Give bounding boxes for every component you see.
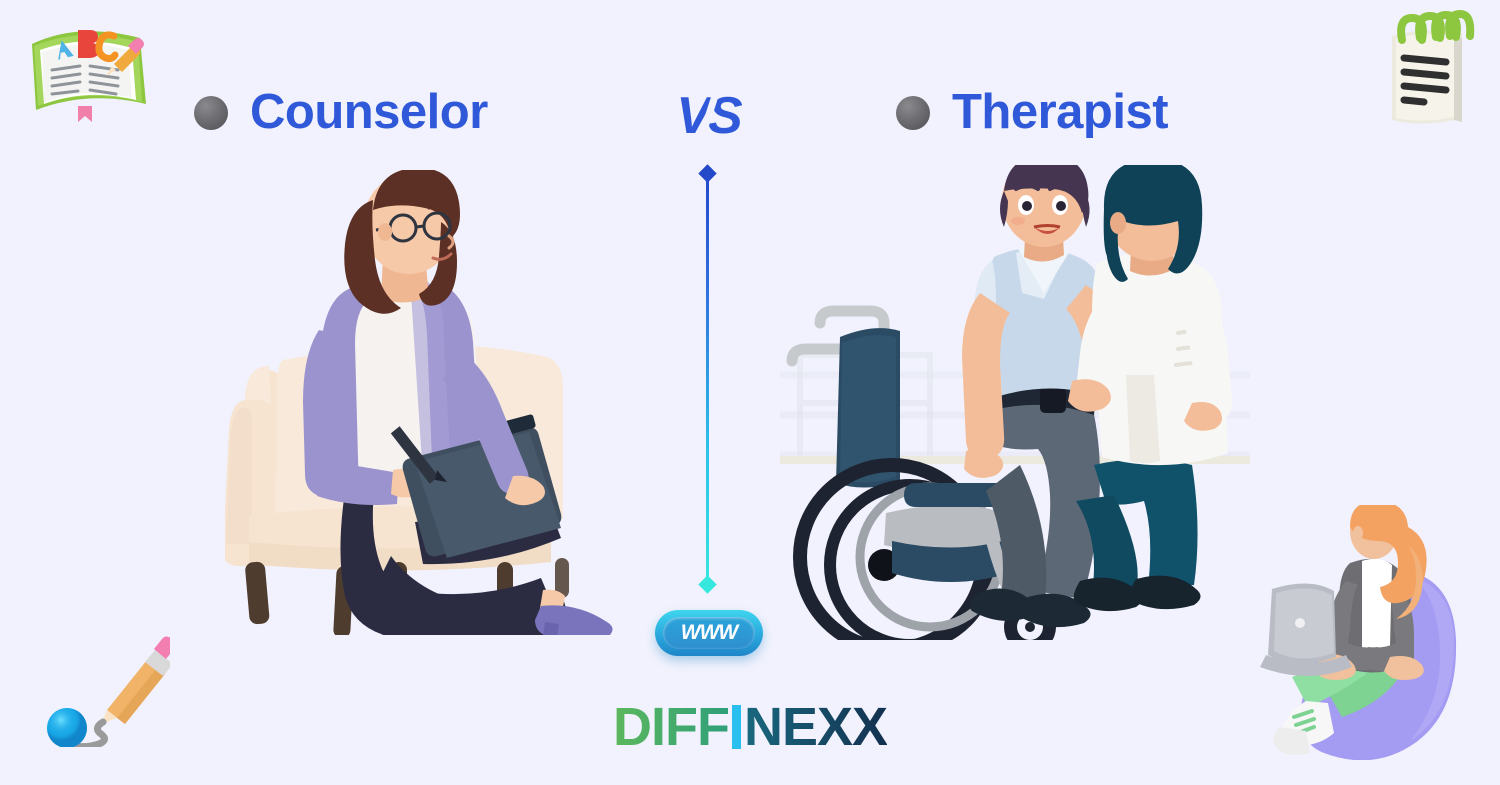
pencil-drawing-squiggle-icon: [45, 622, 170, 747]
spiral-notepad-icon: [1374, 10, 1480, 125]
left-heading: Counselor: [194, 88, 488, 137]
therapist-illustration: [780, 165, 1250, 640]
left-bullet-icon: [194, 96, 228, 130]
vertical-divider: [706, 170, 709, 585]
open-book-abc-icon: [22, 12, 150, 122]
www-badge-inner: WWW: [663, 617, 755, 649]
counselor-illustration: [225, 170, 625, 635]
right-heading: Therapist: [896, 88, 1168, 137]
www-badge-icon: WWW: [655, 610, 763, 656]
right-bullet-icon: [896, 96, 930, 130]
www-badge-label: WWW: [681, 621, 737, 645]
brand-logo-separator-bar: [732, 705, 741, 749]
right-heading-label: Therapist: [952, 88, 1168, 137]
divider-bottom-diamond-icon: [698, 575, 716, 593]
brand-logo-part-a: DIFF: [613, 697, 729, 757]
brand-logo-part-b: NEXX: [744, 697, 887, 757]
left-heading-label: Counselor: [250, 88, 488, 137]
versus-badge: VS: [673, 80, 743, 152]
person-on-beanbag-with-laptop-icon: [1258, 505, 1463, 760]
comparison-banner: Counselor Therapist VS: [0, 0, 1500, 785]
